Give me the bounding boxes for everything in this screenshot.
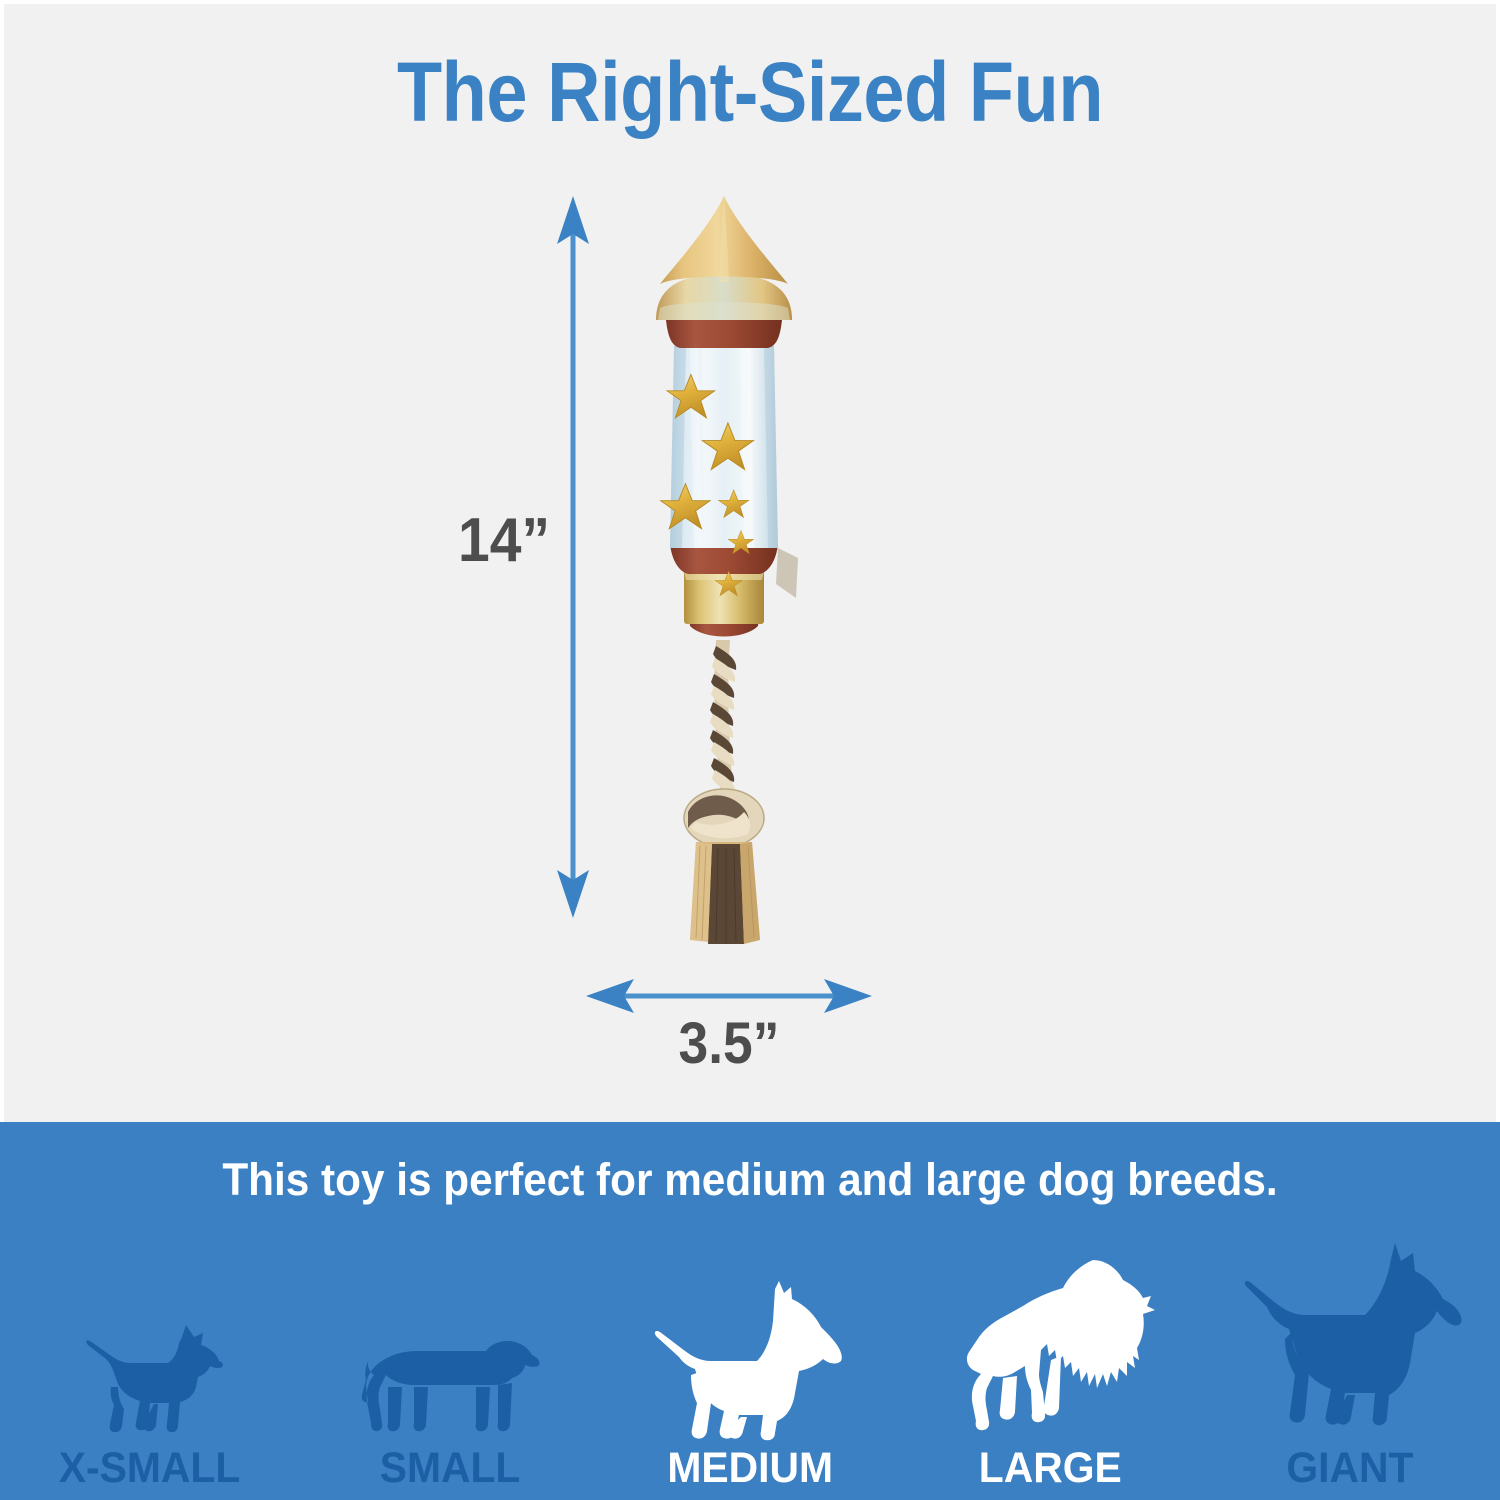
fin-flap: [776, 548, 798, 598]
size-label-giant: GIANT: [1286, 1441, 1413, 1500]
width-dimension-label: 3.5”: [599, 1010, 858, 1077]
size-scale-row: X-SMALL SMALL MEDIUM: [0, 1218, 1500, 1500]
upper-red-band-lower: [670, 544, 778, 574]
bull-terrier-silhouette: [645, 1281, 855, 1441]
dog-silhouette-holder: [1200, 1231, 1500, 1441]
page-title: The Right-Sized Fun: [90, 48, 1410, 136]
golden-retriever-silhouette: [943, 1256, 1158, 1441]
product-image-rocket-rope-toy: [612, 196, 852, 956]
dog-silhouette-holder: [600, 1231, 900, 1441]
dog-silhouette-holder: [900, 1231, 1200, 1441]
rope-knot: [684, 789, 764, 847]
chihuahua-silhouette: [70, 1321, 230, 1441]
horizontal-dimension-arrow: [586, 978, 872, 1014]
size-guide-banner: This toy is perfect for medium and large…: [0, 1122, 1500, 1500]
size-option-small[interactable]: SMALL: [300, 1218, 600, 1500]
size-option-large[interactable]: LARGE: [900, 1218, 1200, 1500]
rope-section: [684, 640, 764, 944]
banner-message: This toy is perfect for medium and large…: [45, 1154, 1455, 1206]
rope-tassel: [690, 842, 760, 944]
upper-red-band: [666, 320, 782, 348]
size-label-large: LARGE: [979, 1441, 1122, 1500]
vertical-dimension-arrow: [556, 196, 590, 918]
great-dane-silhouette: [1235, 1241, 1465, 1441]
size-label-small: SMALL: [380, 1441, 521, 1500]
size-label-x-small: X-SMALL: [59, 1441, 241, 1500]
dog-silhouette-holder: [300, 1231, 600, 1441]
size-option-medium[interactable]: MEDIUM: [600, 1218, 900, 1500]
height-dimension-label: 14”: [440, 505, 550, 576]
size-option-giant[interactable]: GIANT: [1200, 1218, 1500, 1500]
infographic-canvas: The Right-Sized Fun 14” 3.5”: [0, 0, 1500, 1500]
dog-silhouette-holder: [0, 1231, 300, 1441]
dachshund-silhouette: [358, 1321, 543, 1441]
size-option-x-small[interactable]: X-SMALL: [0, 1218, 300, 1500]
size-label-medium: MEDIUM: [667, 1441, 833, 1500]
